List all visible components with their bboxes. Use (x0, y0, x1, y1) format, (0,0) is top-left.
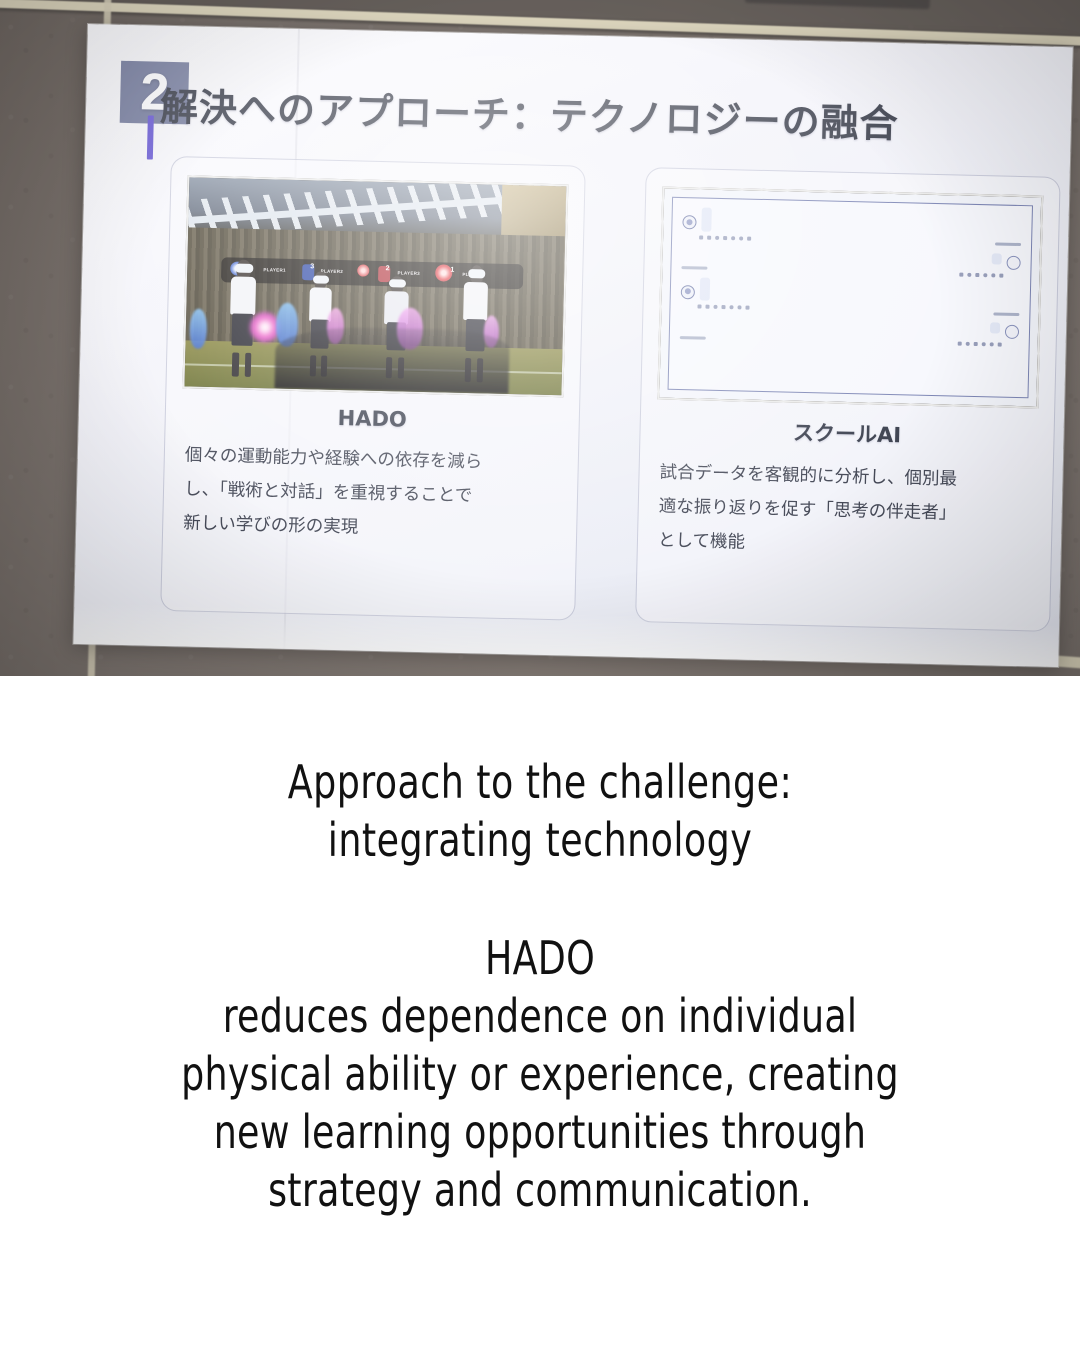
caption-body-title: HADO (65, 930, 1015, 988)
copy-icon[interactable] (959, 272, 963, 276)
ai-avatar-icon (682, 215, 696, 229)
flag-icon[interactable] (745, 306, 749, 310)
copy-icon[interactable] (958, 342, 962, 346)
score-left: 3 (310, 264, 314, 271)
card-label-hado: HADO (337, 406, 407, 432)
player-leg (244, 353, 251, 377)
chat-bubble (700, 277, 711, 301)
caption-body-line: new learning opportunities through (65, 1104, 1015, 1162)
hado-gym-photo: PLAYER1 3 PLAYER2 2 PLAYER3 1 PLAYER (182, 175, 568, 397)
copy-icon[interactable] (699, 235, 703, 239)
player-visor (235, 263, 254, 273)
lock-icon[interactable] (721, 305, 725, 309)
message-action-icons (699, 235, 751, 240)
card-school-ai: スクールAI 試合データを客観的に分析し、個別最 適な振り返りを促す「思考の伴走… (635, 167, 1061, 632)
share-icon[interactable] (713, 305, 717, 309)
share-icon[interactable] (967, 272, 971, 276)
player-shirt (464, 282, 489, 321)
timestamp (681, 266, 707, 270)
chat-message-ai (682, 207, 1021, 239)
message-action-icons (697, 305, 749, 310)
copy-icon[interactable] (697, 305, 701, 309)
player-visor (389, 279, 407, 288)
slide-cards: PLAYER1 3 PLAYER2 2 PLAYER3 1 PLAYER (160, 156, 1060, 632)
chat-bubble (992, 253, 1002, 264)
caption-heading-line: integrating technology (65, 812, 1015, 870)
card-description-school-ai: 試合データを客観的に分析し、個別最 適な振り返りを促す「思考の伴走者」 として機… (654, 456, 1037, 567)
more-icon[interactable] (991, 273, 995, 277)
share-icon[interactable] (966, 342, 970, 346)
flag-icon[interactable] (998, 343, 1002, 347)
user-avatar-icon (1005, 325, 1019, 339)
timestamp (680, 336, 706, 340)
flag-icon[interactable] (747, 236, 751, 240)
user-avatar-icon (1006, 255, 1020, 269)
player-shirt (230, 277, 256, 316)
player-visor (313, 275, 330, 284)
timestamp (993, 312, 1019, 316)
score-far-right: 1 (450, 267, 454, 274)
more-icon[interactable] (737, 306, 741, 310)
school-ai-chat-screenshot (657, 187, 1043, 409)
foreground-audience (275, 326, 510, 394)
caption-heading-line: Approach to the challenge: (65, 754, 1015, 812)
lock-icon[interactable] (974, 342, 978, 346)
player-visor (468, 269, 486, 279)
edit-icon[interactable] (731, 236, 735, 240)
message-action-icons (958, 342, 1002, 347)
ai-avatar-icon (681, 285, 695, 299)
chat-screenshot (659, 189, 1041, 407)
edit-icon[interactable] (982, 342, 986, 346)
caption-heading: Approach to the challenge: integrating t… (65, 754, 1015, 870)
timestamp (995, 242, 1021, 246)
chat-bubble (701, 208, 712, 232)
score-ring-mid (357, 264, 369, 276)
projected-slide-photograph: 2 解決へのアプローチ：テクノロジーの融合 (0, 0, 1080, 676)
player-leg (232, 353, 239, 377)
message-action-icons (959, 272, 1003, 277)
more-icon[interactable] (739, 236, 743, 240)
caption-body-line: strategy and communication. (65, 1162, 1015, 1220)
edit-icon[interactable] (729, 305, 733, 309)
score-right: 2 (386, 265, 390, 272)
share-icon[interactable] (715, 235, 719, 239)
title-accent-bar (147, 115, 154, 159)
card-label-school-ai: スクールAI (793, 417, 902, 450)
lock-icon[interactable] (723, 236, 727, 240)
lock-icon[interactable] (975, 273, 979, 277)
gym-scene: PLAYER1 3 PLAYER2 2 PLAYER3 1 PLAYER (184, 177, 566, 395)
caption-area: Approach to the challenge: integrating t… (0, 676, 1080, 1350)
card-hado: PLAYER1 3 PLAYER2 2 PLAYER3 1 PLAYER (160, 156, 586, 621)
caption-body-line: physical ability or experience, creating (65, 1046, 1015, 1104)
chat-frame (668, 197, 1033, 398)
card-description-hado: 個々の運動能力や経験への依存を減ら し、「戦術と対話」を重視することで 新しい学… (179, 438, 562, 549)
projection-screen: 2 解決へのアプローチ：テクノロジーの融合 (73, 24, 1072, 667)
caption-body: HADO reduces dependence on individual ph… (65, 930, 1015, 1220)
bookmark-icon[interactable] (707, 235, 711, 239)
caption-body-line: reduces dependence on individual (65, 988, 1015, 1046)
slide-photo-with-caption: 2 解決へのアプローチ：テクノロジーの融合 (0, 0, 1080, 1350)
edit-icon[interactable] (983, 273, 987, 277)
scoreboard-label-3: PLAYER3 (398, 270, 421, 276)
chat-bubble (990, 322, 1000, 333)
bookmark-icon[interactable] (705, 305, 709, 309)
chat-message-ai (681, 277, 1020, 309)
flag-icon[interactable] (999, 273, 1003, 277)
scoreboard-label-1: PLAYER1 (263, 267, 286, 273)
more-icon[interactable] (990, 342, 994, 346)
